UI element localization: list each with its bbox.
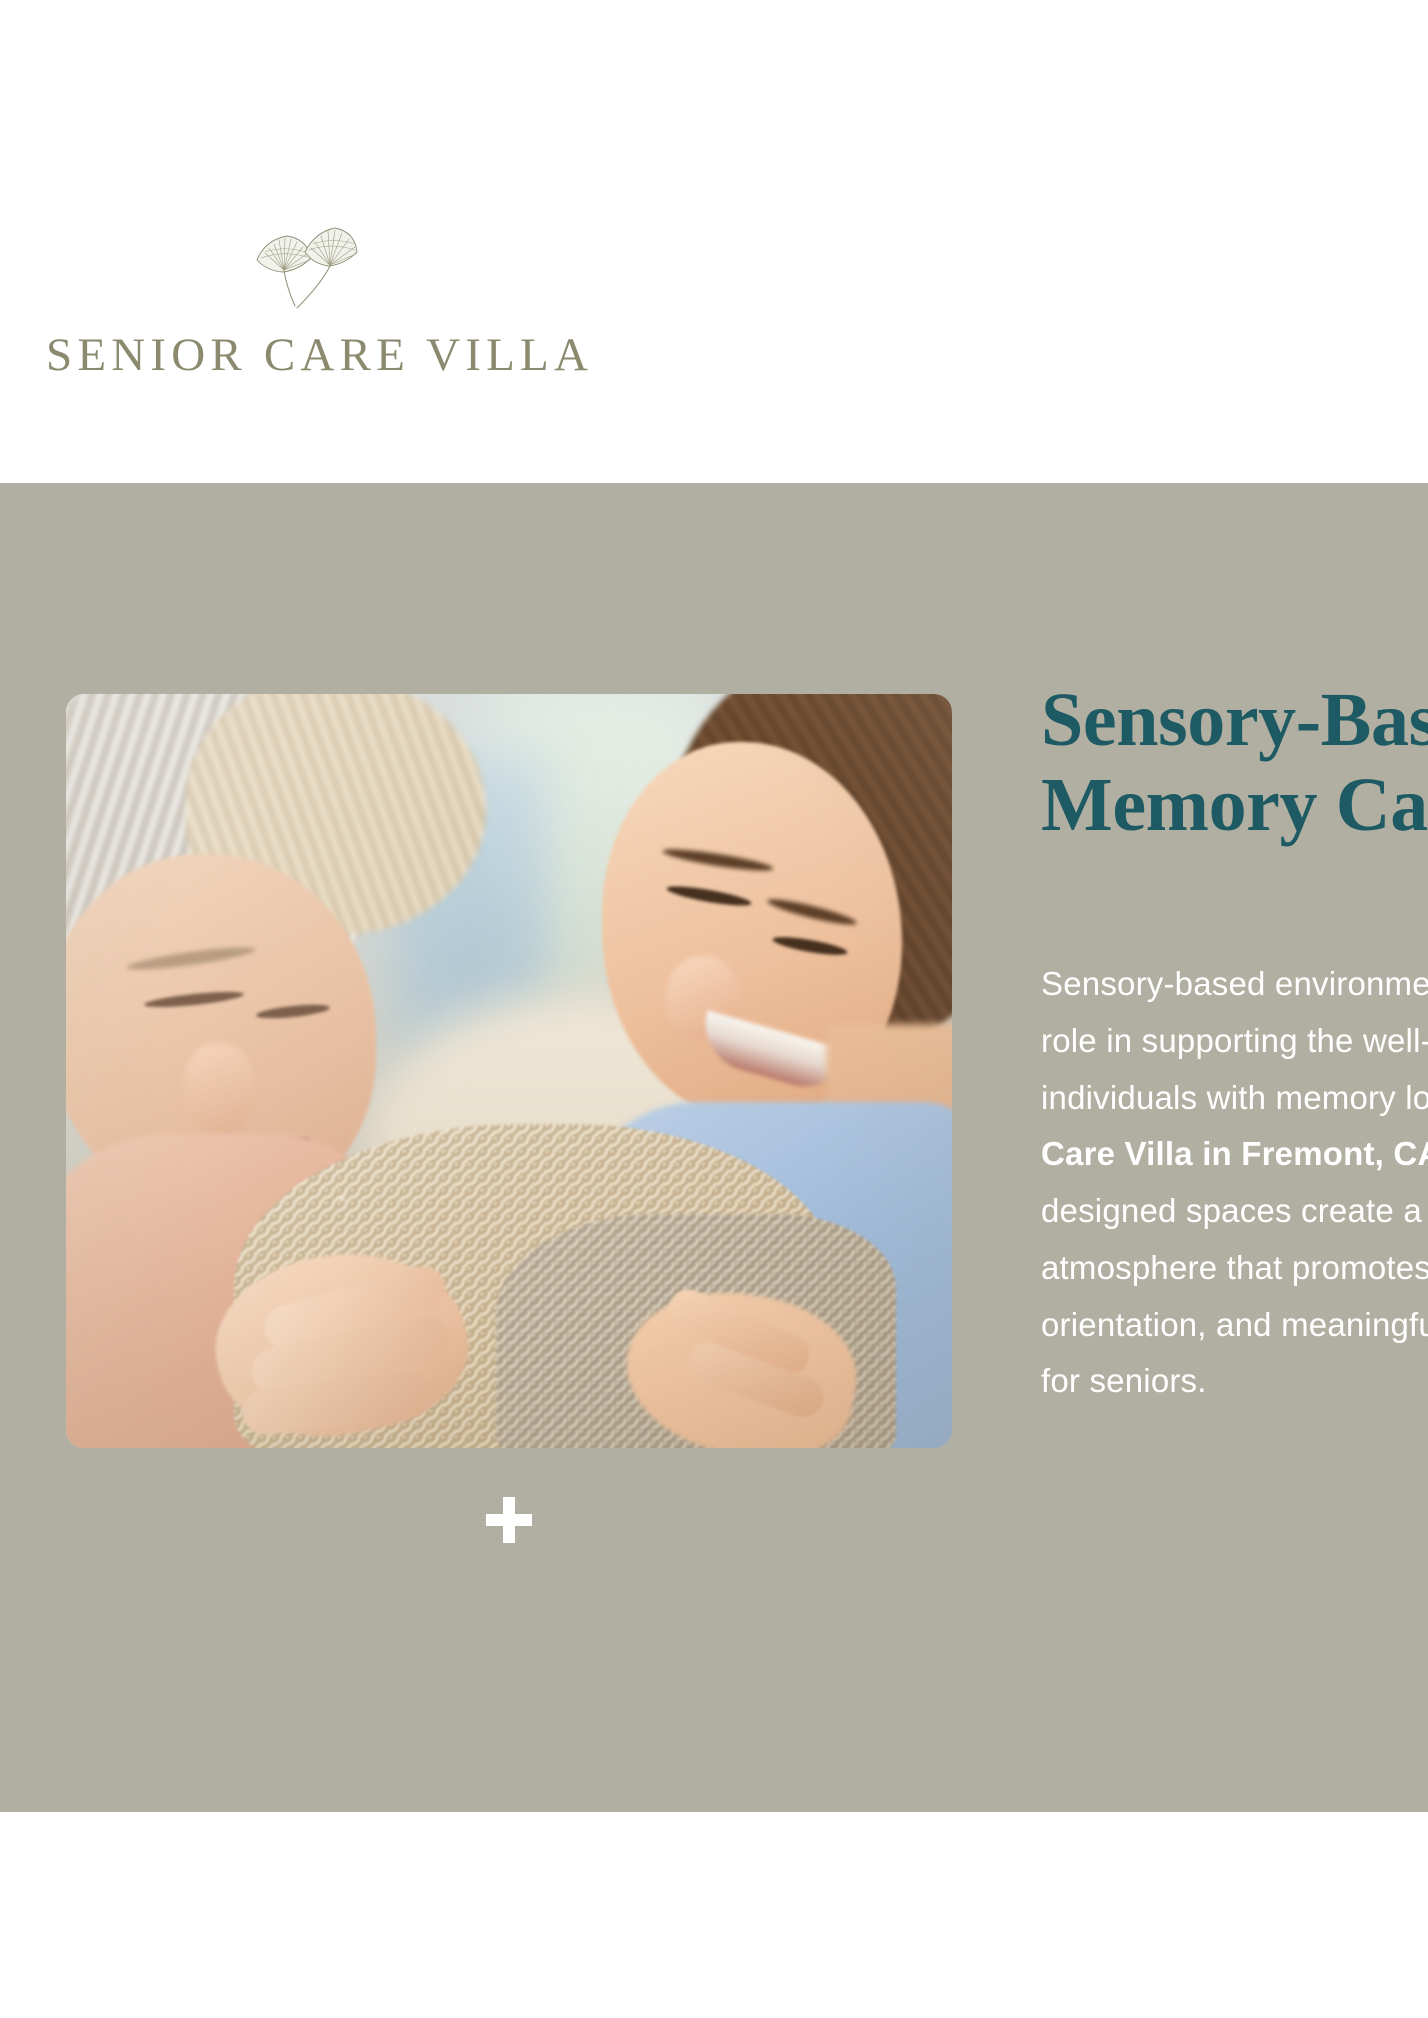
brand-wordmark[interactable]: SENIOR CARE VILLA <box>46 332 593 379</box>
hero-section: Sensory-Based Memory Care Sensory-based … <box>0 483 1428 1812</box>
photo-vignette <box>66 694 952 1448</box>
site-header: SENIOR CARE VILLA <box>0 0 1428 483</box>
hero-photo[interactable] <box>66 694 952 1448</box>
photo-canvas <box>66 694 952 1448</box>
ginkgo-leaf-icon <box>243 220 363 316</box>
expand-media-button[interactable] <box>66 1460 952 1580</box>
plus-icon[interactable] <box>486 1497 532 1543</box>
hero-description-prefix: Sensory-based environments play a vital … <box>1041 965 1428 1116</box>
hero-description: Sensory-based environments play a vital … <box>1041 848 1428 1410</box>
hero-copy: Sensory-Based Memory Care Sensory-based … <box>1041 678 1428 1410</box>
page-title: Sensory-Based Memory Care <box>1041 678 1428 848</box>
hero-description-suffix: , thoughtfully designed spaces create a … <box>1041 1135 1428 1399</box>
page-bottom-spacer <box>0 1812 1428 2018</box>
hero-media-card[interactable] <box>66 694 952 1448</box>
